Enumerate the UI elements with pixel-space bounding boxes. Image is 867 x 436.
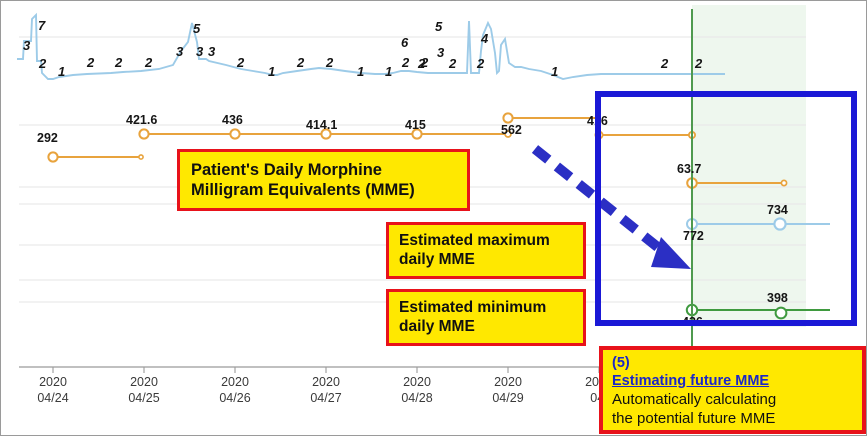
step-callout-line-2: the potential future MME [612, 410, 853, 428]
mme-value-label: 292 [37, 132, 58, 145]
pain-value-label: 2 [477, 57, 484, 70]
tick-day: 04/25 [114, 391, 174, 407]
mme-value-label: 562 [501, 124, 522, 137]
tick-year: 2020 [296, 375, 356, 391]
callout-step-5: (5) Estimating future MME Automatically … [599, 346, 866, 434]
mme-value-label: 436 [222, 114, 243, 127]
tick-day: 04/27 [296, 391, 356, 407]
callout-patient-daily-mme: Patient's Daily Morphine Milligram Equiv… [177, 149, 470, 211]
pain-value-label: 5 [193, 22, 200, 35]
pain-score-line [17, 15, 725, 79]
pain-value-label: 2 [145, 56, 152, 69]
screenshot-root: 3 7 2 1 2 2 2 3 5 3 3 2 1 2 2 1 1 6 2 2 … [0, 0, 867, 436]
pain-value-label: 3 [23, 39, 30, 52]
pain-value-label: 1 [551, 65, 558, 78]
x-axis-ticks [53, 367, 599, 373]
callout-estimated-maximum: Estimated maximum daily MME [386, 222, 586, 279]
pain-value-label: 2 [237, 56, 244, 69]
pain-value-label: 2 [449, 57, 456, 70]
pain-value-label: 2 [402, 56, 409, 69]
pain-value-label: 3 [176, 45, 183, 58]
mme-value-label: 414.1 [306, 119, 337, 132]
x-axis-tick-3: 2020 04/27 [296, 375, 356, 406]
pain-value-label: 4 [481, 32, 488, 45]
callout-line-2: daily MME [399, 318, 573, 337]
tick-year: 2020 [114, 375, 174, 391]
pain-value-label: 2 [297, 56, 304, 69]
callout-line-2: daily MME [399, 251, 573, 270]
estimated-min-green-label: 398 [767, 292, 788, 305]
callout-line-2: Milligram Equivalents (MME) [191, 180, 456, 200]
pain-value-label: 2 [87, 56, 94, 69]
pain-value-label: 2 [115, 56, 122, 69]
x-axis-tick-4: 2020 04/28 [387, 375, 447, 406]
tick-year: 2020 [23, 375, 83, 391]
estimated-max-blue-label: 772 [683, 230, 704, 243]
tick-year: 2020 [387, 375, 447, 391]
step-callout-title: (5) Estimating future MME [612, 355, 853, 390]
mme-value-label: 416 [587, 115, 608, 128]
future-region-shading [692, 5, 806, 327]
pain-value-label: 3 [208, 45, 215, 58]
pain-value-label: 1 [357, 65, 364, 78]
x-axis-tick-5: 2020 04/29 [478, 375, 538, 406]
tick-day: 04/28 [387, 391, 447, 407]
pain-value-label: 3 [437, 46, 444, 59]
callout-estimated-minimum: Estimated minimum daily MME [386, 289, 586, 346]
pain-value-label: 2 [418, 57, 425, 70]
estimated-max-orange-label: 63.7 [677, 163, 701, 176]
pain-value-label: 2 [695, 57, 702, 70]
callout-line-1: Patient's Daily Morphine [191, 160, 456, 180]
pain-value-label: 5 [435, 20, 442, 33]
callout-line-1: Estimated minimum [399, 299, 573, 318]
pain-value-label: 6 [401, 36, 408, 49]
tick-year: 2020 [478, 375, 538, 391]
estimated-max-blue-label: 734 [767, 204, 788, 217]
pain-value-label: 1 [385, 65, 392, 78]
pain-value-label: 7 [38, 19, 45, 32]
estimated-min-green-label: 436 [682, 316, 703, 329]
tick-day: 04/29 [478, 391, 538, 407]
pain-value-label: 2 [326, 56, 333, 69]
x-axis-tick-2: 2020 04/26 [205, 375, 265, 406]
tick-year: 2020 [205, 375, 265, 391]
step-number: (5) [612, 355, 853, 373]
pain-value-label: 2 [39, 57, 46, 70]
mme-value-label: 415 [405, 119, 426, 132]
pain-value-label: 1 [58, 65, 65, 78]
step-callout-line-1: Automatically calculating [612, 391, 853, 409]
tick-day: 04/24 [23, 391, 83, 407]
step-title-text: Estimating future MME [612, 373, 769, 389]
x-axis-tick-1: 2020 04/25 [114, 375, 174, 406]
pain-value-label: 1 [268, 65, 275, 78]
pain-value-label: 2 [661, 57, 668, 70]
x-axis-tick-0: 2020 04/24 [23, 375, 83, 406]
mme-value-label: 421.6 [126, 114, 157, 127]
pain-value-label: 3 [196, 45, 203, 58]
tick-day: 04/26 [205, 391, 265, 407]
callout-line-1: Estimated maximum [399, 232, 573, 251]
